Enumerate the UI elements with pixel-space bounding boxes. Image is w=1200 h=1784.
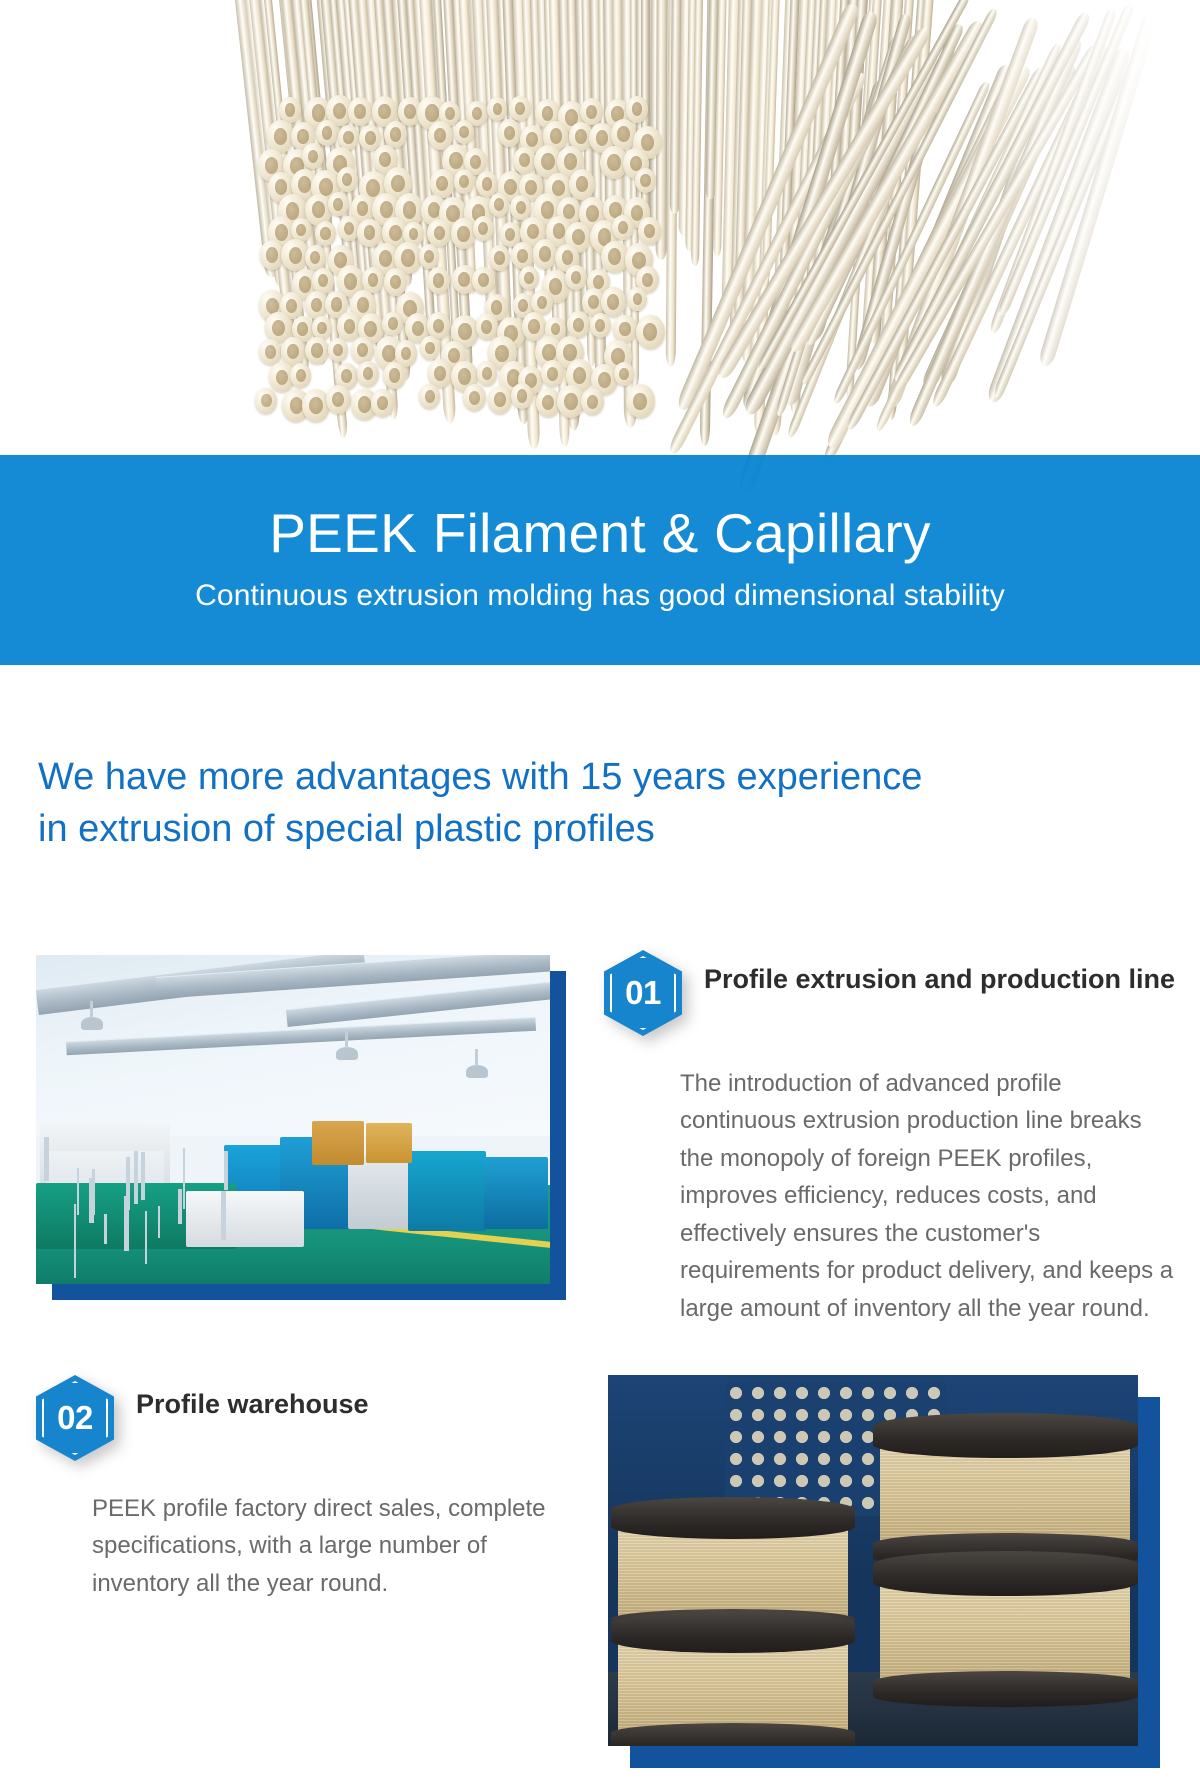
tube-opening [498,119,521,147]
advantage-item-01: 01 Profile extrusion and production line… [0,955,1200,1355]
spool-flange-bottom [611,1723,855,1746]
tube-opening [627,287,647,311]
tube-opening [476,313,499,340]
tube-opening [477,361,498,385]
extrusion-machine [186,1191,304,1247]
tube-opening [541,360,564,387]
hero-banner: PEEK Filament & Capillary Continuous ext… [0,455,1200,665]
item-02-title: Profile warehouse [136,1375,369,1422]
factory-photo-frame [36,955,566,1300]
tube-opening [472,267,495,294]
extrusion-machine [348,1155,412,1229]
machine-pipe [44,1137,48,1181]
item-02-body: PEEK profile factory direct sales, compl… [92,1490,562,1602]
machine-pipe [145,1211,147,1264]
tube-opening [326,385,350,414]
tube-opening [351,337,374,364]
tube-opening [567,311,590,338]
tube-opening [601,287,626,316]
machine-pipe [141,1152,145,1200]
tube-opening [419,244,440,268]
tube-opening [612,215,633,240]
banner-subtitle: Continuous extrusion molding has good di… [195,579,1005,613]
extrusion-machine [484,1157,548,1229]
machine-pipe [74,1204,76,1278]
machine-pipe [134,1151,138,1204]
advantage-item-02: 02 Profile warehouse PEEK profile factor… [0,1375,1200,1775]
tube-opening [454,169,475,193]
banner-title: PEEK Filament & Capillary [269,503,931,564]
hero-left-fade [0,0,280,430]
tube-opening [419,384,440,409]
tube-opening [291,218,311,242]
tube-opening [290,363,311,388]
advantages-heading-line-1: We have more advantages with 15 years ex… [38,752,1168,804]
extrusion-machine [366,1123,412,1163]
tube-openings-cluster [255,95,655,415]
tube-opening [357,361,379,387]
spools-artwork [608,1375,1138,1746]
tube-opening [357,219,381,248]
ceiling-lamp [466,1065,488,1078]
hero-section: PEEK Filament & Capillary Continuous ext… [0,0,1200,665]
tube-opening [509,96,531,122]
tube-opening [565,265,586,290]
machine-pipe [183,1148,185,1209]
spool-flange-top [873,1551,1138,1596]
factory-artwork [36,955,550,1284]
tube-opening [590,313,611,338]
production-line-image [36,955,550,1284]
extrusion-machine [312,1121,364,1165]
machine-pipe [158,1206,160,1238]
tube-opening [531,290,552,315]
tube-opening [315,221,336,246]
tube-opening [638,217,662,245]
tube-opening [371,389,394,417]
tube-opening [427,219,451,247]
tube-opening [636,315,665,349]
tube-opening [328,192,349,216]
tube-opening [635,168,656,193]
item-01-title: Profile extrusion and production line [704,950,1175,997]
spool-flange-top [873,1413,1138,1458]
tube-opening [427,267,450,295]
tube-opening [454,120,475,144]
badge-number-02: 02 [36,1375,114,1461]
tube-opening [305,337,328,365]
tube-opening [430,169,455,198]
tube-opening [489,193,509,217]
filament-spool [618,1611,848,1746]
tube-opening [337,167,358,191]
tube-opening [533,239,558,268]
advantages-heading: We have more advantages with 15 years ex… [38,752,1168,855]
spool-flange-bottom [873,1671,1138,1707]
tube-opening [519,266,539,290]
filament-spool [880,1551,1130,1701]
item-01-header: 01 Profile extrusion and production line [604,950,1200,1036]
tube-opening [626,384,655,418]
tube-opening [626,96,649,123]
machine-pipe [126,1157,130,1210]
tube-opening [513,147,536,174]
tube-opening [384,121,407,148]
tube-opening [382,312,403,336]
product-detail-page: PEEK Filament & Capillary Continuous ext… [0,0,1200,1784]
tube-opening [305,245,326,270]
tube-opening [348,97,372,126]
extrusion-machine [408,1151,486,1231]
item-02-header: 02 Profile warehouse [36,1375,556,1461]
tube-opening [510,195,531,220]
tube-opening [316,120,338,146]
advantages-heading-line-2: in extrusion of special plastic profiles [38,804,1168,856]
tube-opening [384,268,407,296]
machine-pipe [221,1191,226,1240]
tube-opening [312,268,334,294]
ceiling-lamp [81,1017,103,1030]
filament-spool [880,1413,1130,1563]
spool-flange-top [611,1611,855,1653]
machine-pipe [77,1168,79,1215]
machine-pipe [92,1169,95,1215]
tube-opening [420,336,440,360]
tube-opening [473,216,494,241]
tube-opening [451,218,477,248]
tube-opening [614,362,634,386]
tube-opening [511,383,533,409]
machine-pipe [104,1214,107,1244]
ceiling-lamp [336,1047,358,1060]
number-badge-01: 01 [604,950,682,1036]
tube-opening [489,245,511,271]
tube-opening [569,169,595,200]
tube-opening [581,388,604,415]
item-01-body: The introduction of advanced profile con… [680,1065,1180,1327]
tube-opening [302,143,323,168]
filament-spools-image [608,1375,1138,1746]
spool-flange-top [611,1497,855,1539]
tube-opening [338,125,359,150]
machine-pipe [178,1189,182,1223]
warehouse-photo-frame [608,1375,1170,1775]
tube-opening [463,384,486,411]
tube-opening [487,97,507,121]
badge-number-01: 01 [604,950,682,1036]
hero-right-fade [950,0,1200,430]
tube-opening [613,315,636,343]
tube-opening [328,338,349,362]
tube-opening [488,386,512,414]
tube-opening [383,362,406,390]
number-badge-02: 02 [36,1375,114,1461]
machine-pipe [224,1151,229,1190]
